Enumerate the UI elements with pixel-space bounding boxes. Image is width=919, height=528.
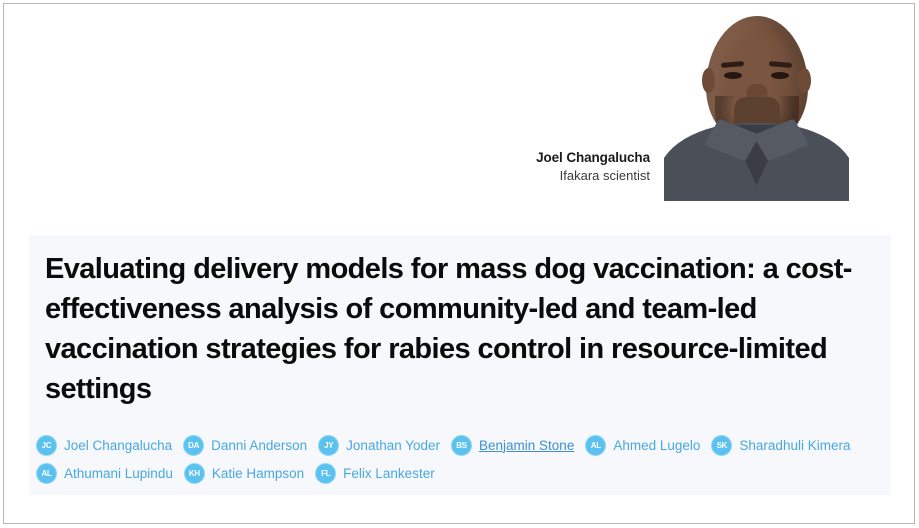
header-zone: Joel Changalucha Ifakara scientist <box>4 4 914 218</box>
portrait-eye-left <box>724 72 742 79</box>
author-item[interactable]: ALAhmed Lugelo <box>585 435 700 456</box>
avatar[interactable]: SK <box>711 435 732 456</box>
avatar[interactable]: DA <box>183 435 204 456</box>
author-list: JCJoel ChangaluchaDADanni AndersonJYJona… <box>36 431 882 487</box>
author-name-link[interactable]: Athumani Lupindu <box>64 466 173 481</box>
portrait-collar-right <box>753 119 809 162</box>
author-name-link[interactable]: Felix Lankester <box>343 466 435 481</box>
author-name-link[interactable]: Danni Anderson <box>211 438 307 453</box>
scientist-name: Joel Changalucha <box>420 149 650 167</box>
author-item[interactable]: SKSharadhuli Kimera <box>711 435 850 456</box>
portrait-eye-right <box>771 72 789 79</box>
portrait-ear-right <box>798 68 811 93</box>
page-frame: Joel Changalucha Ifakara scientist Evalu… <box>3 3 915 524</box>
author-name-link[interactable]: Ahmed Lugelo <box>613 438 700 453</box>
avatar[interactable]: BS <box>451 435 472 456</box>
author-item[interactable]: KHKatie Hampson <box>184 463 304 484</box>
author-item[interactable]: DADanni Anderson <box>183 435 307 456</box>
author-row: ALAthumani LupinduKHKatie HampsonFLFelix… <box>36 459 882 487</box>
author-name-link[interactable]: Katie Hampson <box>212 466 304 481</box>
author-name-link[interactable]: Jonathan Yoder <box>346 438 440 453</box>
author-name-link[interactable]: Joel Changalucha <box>64 438 172 453</box>
page-title: Evaluating delivery models for mass dog … <box>45 249 875 409</box>
author-name-link[interactable]: Sharadhuli Kimera <box>739 438 850 453</box>
author-item[interactable]: FLFelix Lankester <box>315 463 435 484</box>
avatar[interactable]: AL <box>36 463 57 484</box>
scientist-caption: Joel Changalucha Ifakara scientist <box>420 149 650 185</box>
scientist-role: Ifakara scientist <box>420 167 650 185</box>
author-item[interactable]: JCJoel Changalucha <box>36 435 172 456</box>
portrait-collar-left <box>704 119 760 162</box>
portrait-photo-joel-changalucha <box>664 4 849 201</box>
avatar[interactable]: AL <box>585 435 606 456</box>
avatar[interactable]: FL <box>315 463 336 484</box>
portrait-ear-left <box>702 68 715 93</box>
portrait-shoulders <box>664 123 849 201</box>
author-row: JCJoel ChangaluchaDADanni AndersonJYJona… <box>36 431 882 459</box>
author-item[interactable]: ALAthumani Lupindu <box>36 463 173 484</box>
author-item[interactable]: JYJonathan Yoder <box>318 435 440 456</box>
author-item[interactable]: BSBenjamin Stone <box>451 435 574 456</box>
author-name-link[interactable]: Benjamin Stone <box>479 438 574 453</box>
avatar[interactable]: KH <box>184 463 205 484</box>
article-card: Evaluating delivery models for mass dog … <box>29 235 891 495</box>
avatar[interactable]: JC <box>36 435 57 456</box>
avatar[interactable]: JY <box>318 435 339 456</box>
